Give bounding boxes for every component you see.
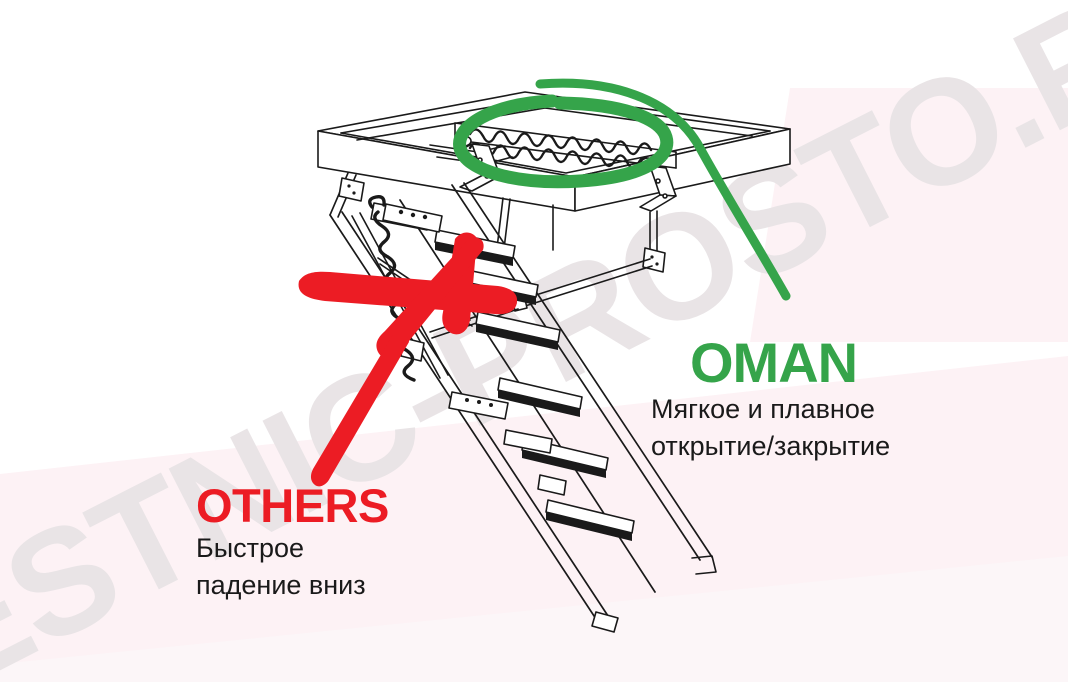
red-arrow-marker (299, 232, 518, 486)
oman-description-line2: открытие/закрытие (651, 431, 890, 462)
illustration-canvas: LESTNIC-PROSTO.RU (0, 0, 1068, 682)
red-annotation-layer (0, 0, 1068, 682)
oman-brand-label: OMAN (690, 330, 857, 395)
oman-description-line1: Мягкое и плавное (651, 394, 875, 425)
others-description-line1: Быстрое (196, 533, 304, 564)
others-description-line2: падение вниз (196, 570, 366, 601)
others-brand-label: OTHERS (196, 478, 389, 533)
